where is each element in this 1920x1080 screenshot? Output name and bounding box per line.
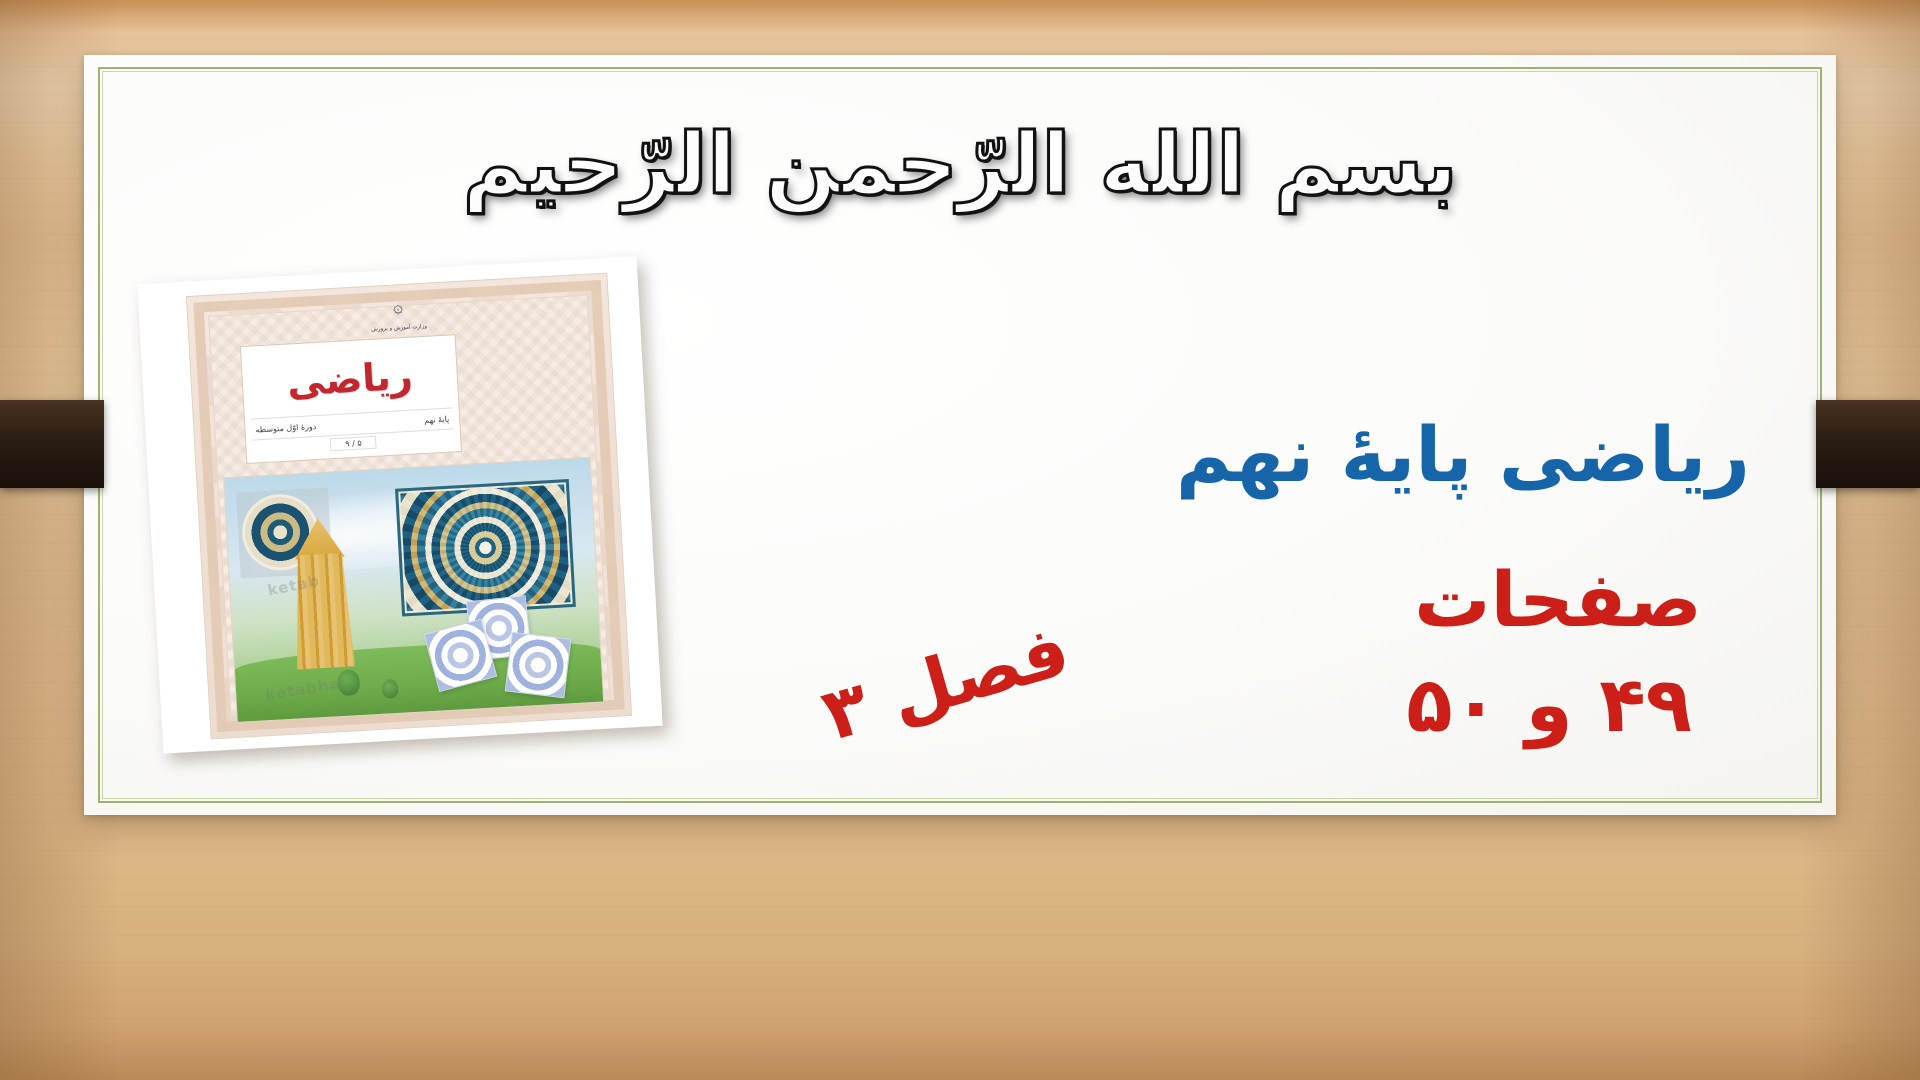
- pages-label: صفحات: [1414, 555, 1702, 644]
- medallion-ray-pattern: [398, 482, 573, 613]
- star-tile-medallion: [395, 479, 576, 617]
- pages-numbers: ۴۹ و ۵۰: [1406, 660, 1692, 749]
- subject-grade-heading: ریاضی پایهٔ نهم: [1176, 410, 1750, 499]
- geometric-tile-card: [505, 632, 572, 699]
- cover-code-label: ۵ / ۹: [330, 436, 377, 452]
- slide-stage: بسم الله الرّحمن الرّحیم ۞ وزارت آموزش و…: [0, 0, 1920, 1080]
- cover-title-text: ریاضی: [242, 351, 458, 407]
- cover-title-box: ریاضی پایهٔ نهم دورهٔ اوّل متوسطه ۵ / ۹: [240, 334, 462, 464]
- textbook-cover: ۞ وزارت آموزش و پرورش ریاضی پایهٔ نهم دو…: [186, 273, 632, 740]
- ministry-emblem-icon: ۞: [380, 298, 415, 326]
- cover-grade-label: پایهٔ نهم: [420, 414, 453, 425]
- tower-conical-roof: [293, 517, 345, 560]
- textbook-photo: ۞ وزارت آموزش و پرورش ریاضی پایهٔ نهم دو…: [150, 270, 680, 750]
- right-tab-marker: [1816, 400, 1920, 488]
- bismillah-heading: بسم الله الرّحمن الرّحیم: [0, 112, 1920, 217]
- tower-fluted-body: [291, 553, 355, 670]
- emblem-glyph: ۞: [380, 298, 415, 318]
- cover-subtitle-row: پایهٔ نهم دورهٔ اوّل متوسطه: [251, 407, 454, 440]
- cover-stage-label: دورهٔ اوّل متوسطه: [251, 421, 320, 434]
- left-tab-marker: [0, 400, 104, 488]
- cover-illustration: ketab ketabha: [223, 457, 604, 723]
